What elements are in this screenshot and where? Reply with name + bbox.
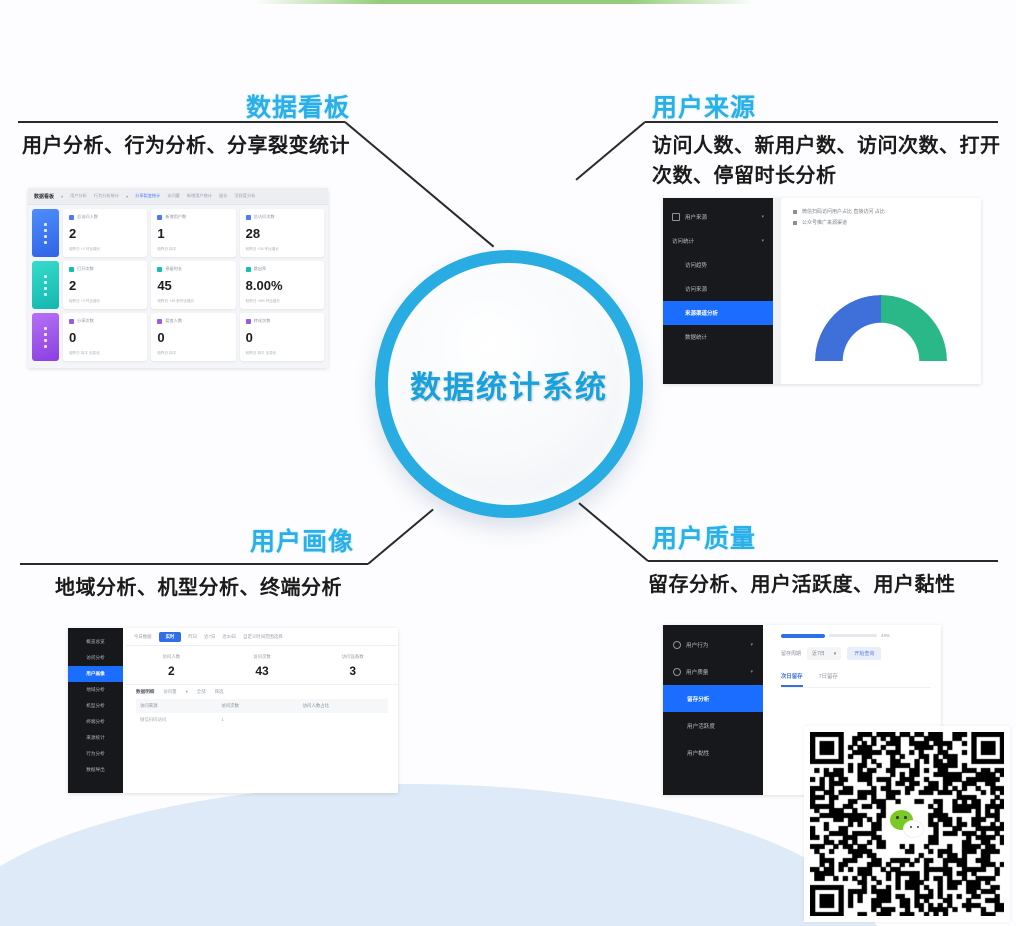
table-header-cell: 访问来源 bbox=[140, 703, 221, 709]
table-cell: 微信扫码访问 bbox=[140, 717, 221, 723]
quality-tab-bar: 次日留存 7日留存 bbox=[781, 672, 931, 688]
sidebar-item-label: 机型分析 bbox=[86, 703, 104, 709]
dashboard-row-tab[interactable] bbox=[32, 209, 59, 257]
source-content: 微信扫码访问用户占比 直接访问 占比 公众号推广来源渠道 bbox=[781, 198, 981, 384]
sidebar-item-data-stats[interactable]: 数据统计 bbox=[663, 325, 773, 349]
card-header: 停留时长 bbox=[157, 266, 229, 272]
connector-rule-quality bbox=[648, 560, 998, 562]
section-subtitle-dashboard: 用户分析、行为分析、分享裂变统计 bbox=[22, 131, 350, 161]
wechat-qr-card[interactable] bbox=[804, 726, 1010, 922]
card-header: 新增用户数 bbox=[157, 214, 229, 220]
card-label: 分享次数 bbox=[77, 318, 94, 324]
chevron-down-icon: ▾ bbox=[834, 651, 837, 657]
chevron-down-icon: ▾ bbox=[761, 238, 764, 244]
tab-seven-day-retention[interactable]: 7日留存 bbox=[819, 672, 838, 687]
dashboard-nav-item[interactable]: ▾ bbox=[126, 194, 128, 199]
dashboard-row-tab[interactable] bbox=[32, 313, 59, 361]
card-footnote: 较昨日 持平 bbox=[157, 247, 229, 252]
person-icon bbox=[673, 668, 681, 676]
chevron-down-icon: ▾ bbox=[761, 214, 764, 220]
time-icon bbox=[157, 267, 162, 272]
wechat-eye bbox=[917, 826, 919, 828]
card-value: 2 bbox=[69, 279, 141, 292]
filter-extra[interactable]: 筛选 bbox=[215, 689, 224, 695]
dashboard-topbar-chevron: ▾ bbox=[61, 194, 63, 199]
section-title-dashboard: 数据看板 bbox=[246, 88, 350, 124]
users-icon bbox=[69, 215, 74, 220]
section-subtitle-portrait: 地域分析、机型分析、终端分析 bbox=[55, 573, 342, 603]
dashboard-nav-item[interactable]: 访问量 bbox=[167, 193, 180, 199]
sidebar-item-label: 访问趋势 bbox=[685, 261, 707, 269]
dashboard-brand: 数据看板 bbox=[34, 193, 54, 200]
bottom-wave-decoration bbox=[0, 784, 880, 926]
card-footnote: 较昨日 +2 环比增长 bbox=[69, 299, 141, 304]
card-footnote: 较昨日 持平 无变化 bbox=[246, 351, 318, 356]
sidebar-item-channel-analysis[interactable]: 来源渠道分析 bbox=[663, 301, 773, 325]
click-icon bbox=[246, 215, 251, 220]
row-tab-dots-icon bbox=[44, 223, 47, 244]
user-add-icon bbox=[157, 215, 162, 220]
sidebar-item-label: 终端分析 bbox=[86, 719, 104, 725]
select-value: 近7日 bbox=[812, 650, 825, 657]
filter-value[interactable]: 访问量 bbox=[163, 689, 176, 695]
sidebar-item-label: 概览总览 bbox=[86, 639, 104, 645]
dashboard-nav-item[interactable]: 新增用户统计 bbox=[187, 193, 212, 199]
connector-diagonal-portrait bbox=[367, 509, 433, 565]
dashboard-stat-card[interactable]: 总访问人数 2 较昨日 +2 环比增长 bbox=[63, 209, 147, 257]
dashboard-row: 打开次数 2 较昨日 +2 环比增长 停留时长 45 较昨日 +45 秒环比增长 bbox=[32, 261, 324, 309]
section-title-source: 用户来源 bbox=[652, 88, 756, 124]
sidebar-item-label: 用户黏性 bbox=[687, 749, 709, 757]
dashboard-stat-card[interactable]: 分享次数 0 较昨日 持平 无变化 bbox=[63, 313, 147, 361]
chevron-down-icon: ▾ bbox=[750, 669, 753, 675]
wechat-eye bbox=[910, 826, 912, 828]
sidebar-item-label: 数据统计 bbox=[685, 333, 707, 341]
card-header: 跳出率 bbox=[246, 266, 318, 272]
sidebar-item-behavior-analysis[interactable]: 行为分析 bbox=[68, 746, 123, 762]
card-label: 跳出率 bbox=[254, 266, 267, 272]
dashboard-stat-card[interactable]: 转化次数 0 较昨日 持平 无变化 bbox=[240, 313, 324, 361]
stat-block: 访问人数 2 bbox=[126, 654, 217, 678]
stat-block: 访问次数 43 bbox=[217, 654, 308, 678]
sidebar-item-label: 来源渠道分析 bbox=[685, 309, 718, 317]
source-sidebar: 用户来源 ▾ 访问统计 ▾ 访问趋势 访问来源 来源渠道分析 数据统计 bbox=[663, 198, 773, 384]
gear-icon bbox=[673, 641, 681, 649]
card-footnote: 较昨日 持平 无变化 bbox=[69, 351, 141, 356]
portrait-filter-row: 数据明细 访问量 ▾ 全部 筛选 bbox=[126, 684, 398, 699]
card-value: 0 bbox=[157, 331, 229, 344]
card-value: 2 bbox=[69, 227, 141, 240]
period-select[interactable]: 近7日 ▾ bbox=[807, 647, 841, 660]
tab-today[interactable]: 今日数据 bbox=[134, 634, 152, 640]
section-subtitle-quality: 留存分析、用户活跃度、用户黏性 bbox=[648, 570, 956, 600]
filter-label: 留存周期 bbox=[781, 650, 801, 657]
card-value: 45 bbox=[157, 279, 229, 292]
infographic-page: 数据看板 用户分析、行为分析、分享裂变统计 用户来源 访问人数、新用户数、访问次… bbox=[0, 0, 1016, 926]
center-hub-circle: 数据统计系统 bbox=[375, 250, 643, 518]
card-label: 打开次数 bbox=[77, 266, 94, 272]
tab-yesterday[interactable]: 昨日 bbox=[188, 634, 197, 640]
filter-label: 数据明细 bbox=[136, 689, 154, 695]
card-label: 新增用户数 bbox=[165, 214, 186, 220]
query-button[interactable]: 开始查询 bbox=[847, 647, 881, 660]
card-value: 0 bbox=[246, 331, 318, 344]
sidebar-item-label: 访问分析 bbox=[86, 655, 104, 661]
dashboard-nav-item-active[interactable]: 分享裂变统计 bbox=[135, 193, 160, 199]
progress-value: 48% bbox=[881, 633, 890, 638]
legend-swatch bbox=[793, 221, 797, 225]
sidebar-item-user-stickiness[interactable]: 用户黏性 bbox=[663, 739, 763, 766]
sidebar-item-region-analysis[interactable]: 地域分析 bbox=[68, 682, 123, 698]
portrait-content: 今日数据 实时 昨日 近7日 近30日 自定义时间范围选择 访问人数 2 访问次… bbox=[126, 628, 398, 793]
card-label: 总访问人数 bbox=[77, 214, 98, 220]
sidebar-item-label: 用户画像 bbox=[86, 671, 104, 677]
screenshot-user-source: 用户来源 ▾ 访问统计 ▾ 访问趋势 访问来源 来源渠道分析 数据统计 bbox=[663, 198, 981, 384]
progress-indicator: 48% bbox=[781, 633, 931, 638]
sidebar-item-label: 用户来源 bbox=[685, 213, 707, 221]
section-subtitle-source: 访问人数、新用户数、访问次数、打开 次数、停留时长分析 bbox=[652, 131, 1001, 191]
card-header: 总访问人数 bbox=[69, 214, 141, 220]
legend-label: 公众号推广来源渠道 bbox=[802, 219, 847, 226]
tab-next-day-retention[interactable]: 次日留存 bbox=[781, 672, 803, 687]
stat-label: 访问设备数 bbox=[307, 654, 398, 660]
card-footnote: 较昨日 持平 bbox=[157, 351, 229, 356]
card-header: 分享次数 bbox=[69, 318, 141, 324]
table-cell: 1 bbox=[221, 717, 302, 723]
stat-label: 访问人数 bbox=[126, 654, 217, 660]
portrait-tab-bar: 今日数据 实时 昨日 近7日 近30日 自定义时间范围选择 bbox=[126, 628, 398, 646]
screenshot-user-portrait: 概览总览 访问分析 用户画像 地域分析 机型分析 终端分析 来源统计 行为分析 … bbox=[68, 628, 398, 793]
stat-value: 43 bbox=[217, 664, 308, 678]
dashboard-card-rows: 总访问人数 2 较昨日 +2 环比增长 新增用户数 1 较昨日 持平 bbox=[28, 205, 328, 365]
card-label: 总访问次数 bbox=[254, 214, 275, 220]
sidebar-item-label: 访问统计 bbox=[672, 237, 694, 245]
card-footnote: 较昨日 +45 秒环比增长 bbox=[157, 299, 229, 304]
tab-last-7-days[interactable]: 近7日 bbox=[204, 634, 215, 640]
dashboard-nav-item[interactable]: 用户分析 bbox=[70, 193, 87, 199]
sidebar-item-label: 留存分析 bbox=[687, 695, 709, 703]
sidebar-item-retention-analysis[interactable]: 留存分析 bbox=[663, 685, 763, 712]
connector-diagonal-dashboard bbox=[344, 121, 494, 247]
stat-value: 3 bbox=[307, 664, 398, 678]
dashboard-stat-card[interactable]: 停留时长 45 较昨日 +45 秒环比增长 bbox=[151, 261, 235, 309]
sidebar-item-user-portrait[interactable]: 用户画像 bbox=[68, 666, 123, 682]
dashboard-nav-item[interactable]: 活跃度分析 bbox=[234, 193, 255, 199]
top-accent-line bbox=[255, 0, 755, 4]
sidebar-item-label: 来源统计 bbox=[86, 735, 104, 741]
dashboard-stat-card[interactable]: 跳出率 8.00% 较昨日 +8% 环比增长 bbox=[240, 261, 324, 309]
sidebar-item-user-source[interactable]: 用户来源 ▾ bbox=[663, 205, 773, 229]
sidebar-item-label: 访问来源 bbox=[685, 285, 707, 293]
wechat-bubble-small bbox=[903, 820, 924, 838]
fission-icon bbox=[157, 319, 162, 324]
wechat-eye bbox=[896, 816, 899, 819]
sidebar-item-visit-stats[interactable]: 访问统计 ▾ bbox=[663, 229, 773, 253]
sidebar-item-label: 用户活跃度 bbox=[687, 722, 715, 730]
sidebar-item-label: 地域分析 bbox=[86, 687, 104, 693]
progress-bar-track bbox=[829, 634, 877, 637]
card-label: 停留时长 bbox=[165, 266, 182, 272]
share-icon bbox=[69, 319, 74, 324]
table-header-cell: 访问次数 bbox=[221, 703, 302, 709]
dashboard-stat-card[interactable]: 总访问次数 28 较昨日 +28 环比增长 bbox=[240, 209, 324, 257]
sidebar-item-data-export[interactable]: 数据导出 bbox=[68, 762, 123, 778]
chart-legend-row: 公众号推广来源渠道 bbox=[793, 219, 969, 226]
dashboard-nav-item[interactable]: 行为分析统计 bbox=[94, 193, 119, 199]
stat-value: 2 bbox=[126, 664, 217, 678]
tab-realtime-active[interactable]: 实时 bbox=[159, 632, 182, 642]
legend-label: 微信扫码访问用户占比 直接访问 占比 bbox=[802, 208, 885, 215]
sidebar-item-terminal-analysis[interactable]: 终端分析 bbox=[68, 714, 123, 730]
row-tab-dots-icon bbox=[44, 275, 47, 296]
table-header-row: 访问来源 访问次数 访问人数占比 bbox=[136, 699, 388, 713]
card-value: 8.00% bbox=[246, 279, 318, 292]
sidebar-item-user-quality[interactable]: 用户质量 ▾ bbox=[663, 658, 763, 685]
sidebar-item-source-stats[interactable]: 来源统计 bbox=[68, 730, 123, 746]
convert-icon bbox=[246, 319, 251, 324]
connector-diagonal-quality bbox=[578, 502, 648, 561]
quality-filter-row: 留存周期 近7日 ▾ 开始查询 bbox=[781, 647, 931, 660]
sidebar-item-user-behavior[interactable]: 用户行为 ▾ bbox=[663, 631, 763, 658]
card-header: 转化次数 bbox=[246, 318, 318, 324]
sidebar-item-label: 用户质量 bbox=[686, 668, 708, 676]
quality-sidebar: 用户行为 ▾ 用户质量 ▾ 留存分析 用户活跃度 用户黏性 bbox=[663, 625, 763, 795]
tab-custom-range[interactable]: 自定义时间范围选择 bbox=[243, 634, 283, 640]
sidebar-item-overview[interactable]: 概览总览 bbox=[68, 634, 123, 650]
chart-legend-row: 微信扫码访问用户占比 直接访问 占比 bbox=[793, 208, 969, 215]
portrait-stats-row: 访问人数 2 访问次数 43 访问设备数 3 bbox=[126, 646, 398, 684]
card-value: 28 bbox=[246, 227, 318, 240]
center-hub-label: 数据统计系统 bbox=[410, 362, 608, 407]
table-cell bbox=[303, 717, 384, 723]
sidebar-item-visit-trend[interactable]: 访问趋势 bbox=[663, 253, 773, 277]
card-footnote: 较昨日 +2 环比增长 bbox=[69, 247, 141, 252]
dashboard-stat-card[interactable]: 打开次数 2 较昨日 +2 环比增长 bbox=[63, 261, 147, 309]
sidebar-item-label: 数据导出 bbox=[86, 767, 104, 773]
connector-diagonal-source bbox=[575, 121, 645, 180]
chevron-down-icon: ▾ bbox=[186, 689, 188, 695]
card-label: 裂变人数 bbox=[165, 318, 182, 324]
legend-swatch bbox=[793, 210, 797, 214]
sidebar-item-user-activity[interactable]: 用户活跃度 bbox=[663, 712, 763, 739]
dashboard-row: 总访问人数 2 较昨日 +2 环比增长 新增用户数 1 较昨日 持平 bbox=[32, 209, 324, 257]
chart-icon bbox=[672, 213, 680, 221]
card-header: 打开次数 bbox=[69, 266, 141, 272]
connector-rule-portrait bbox=[20, 563, 368, 565]
dashboard-topbar: 数据看板 ▾ 用户分析 行为分析统计 ▾ 分享裂变统计 访问量 新增用户统计 留… bbox=[28, 188, 328, 205]
donut-ring bbox=[815, 295, 947, 361]
sidebar-item-label: 行为分析 bbox=[86, 751, 104, 757]
tab-last-30-days[interactable]: 近30日 bbox=[222, 634, 236, 640]
section-title-portrait: 用户画像 bbox=[250, 522, 354, 558]
table-row[interactable]: 微信扫码访问 1 bbox=[136, 713, 388, 727]
wechat-eye bbox=[904, 816, 907, 819]
dashboard-nav-item[interactable]: 留存 bbox=[219, 193, 227, 199]
open-icon bbox=[69, 267, 74, 272]
donut-semicircle bbox=[815, 295, 947, 361]
dashboard-stat-card[interactable]: 新增用户数 1 较昨日 持平 bbox=[151, 209, 235, 257]
filter-option[interactable]: 全部 bbox=[197, 689, 206, 695]
card-footnote: 较昨日 +28 环比增长 bbox=[246, 247, 318, 252]
sidebar-item-visit-source[interactable]: 访问来源 bbox=[663, 277, 773, 301]
progress-bar-filled bbox=[781, 634, 825, 638]
card-header: 裂变人数 bbox=[157, 318, 229, 324]
screenshot-dashboard: 数据看板 ▾ 用户分析 行为分析统计 ▾ 分享裂变统计 访问量 新增用户统计 留… bbox=[28, 188, 328, 368]
rate-icon bbox=[246, 267, 251, 272]
wechat-logo bbox=[890, 810, 924, 838]
card-header: 总访问次数 bbox=[246, 214, 318, 220]
donut-chart bbox=[815, 295, 947, 361]
chevron-down-icon: ▾ bbox=[750, 642, 753, 648]
dashboard-row-tab[interactable] bbox=[32, 261, 59, 309]
sidebar-item-label: 用户行为 bbox=[686, 641, 708, 649]
card-footnote: 较昨日 +8% 环比增长 bbox=[246, 299, 318, 304]
table-header-cell: 访问人数占比 bbox=[303, 703, 384, 709]
card-value: 1 bbox=[157, 227, 229, 240]
stat-label: 访问次数 bbox=[217, 654, 308, 660]
sidebar-divider bbox=[773, 198, 781, 384]
dashboard-stat-card[interactable]: 裂变人数 0 较昨日 持平 bbox=[151, 313, 235, 361]
sidebar-item-visit-analysis[interactable]: 访问分析 bbox=[68, 650, 123, 666]
section-title-quality: 用户质量 bbox=[652, 519, 756, 555]
row-tab-dots-icon bbox=[44, 327, 47, 348]
portrait-data-table: 访问来源 访问次数 访问人数占比 微信扫码访问 1 bbox=[126, 699, 398, 727]
card-value: 0 bbox=[69, 331, 141, 344]
sidebar-item-device-analysis[interactable]: 机型分析 bbox=[68, 698, 123, 714]
card-label: 转化次数 bbox=[254, 318, 271, 324]
dashboard-row: 分享次数 0 较昨日 持平 无变化 裂变人数 0 较昨日 持平 bbox=[32, 313, 324, 361]
portrait-sidebar: 概览总览 访问分析 用户画像 地域分析 机型分析 终端分析 来源统计 行为分析 … bbox=[68, 628, 123, 793]
stat-block: 访问设备数 3 bbox=[307, 654, 398, 678]
